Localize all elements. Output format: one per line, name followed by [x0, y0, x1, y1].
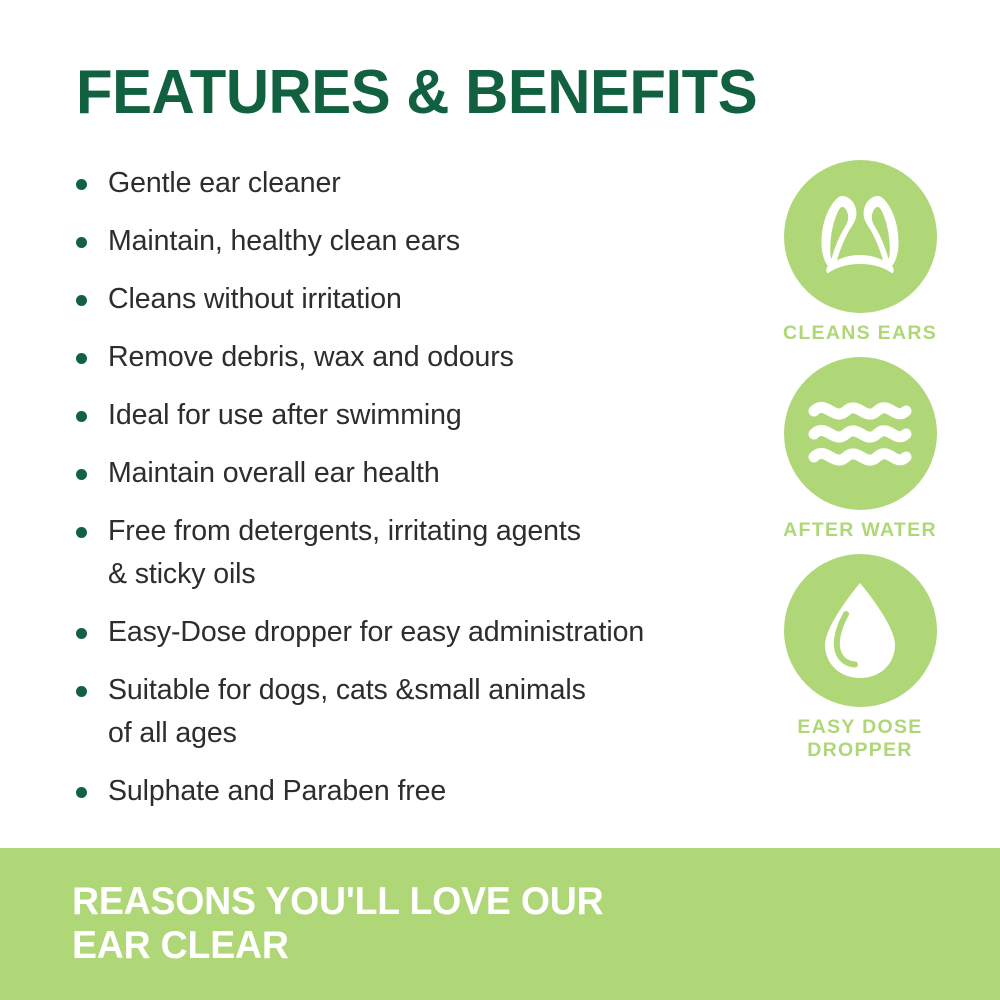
water-droplet-icon — [821, 581, 899, 681]
list-item-label: Maintain, healthy clean ears — [108, 220, 776, 263]
list-item-label: Cleans without irritation — [108, 278, 776, 321]
banner-heading: REASONS YOU'LL LOVE OUR EAR CLEAR — [72, 880, 604, 968]
feature-icon-column: CLEANS EARS AFTER WATER EASY DOSE DROPPE… — [760, 160, 960, 774]
feature-badge-after-water: AFTER WATER — [760, 357, 960, 542]
bullet-dot-icon — [76, 628, 87, 639]
page-title: FEATURES & BENEFITS — [76, 58, 757, 128]
feature-badge-label: EASY DOSE DROPPER — [760, 716, 960, 762]
bullet-dot-icon — [76, 411, 87, 422]
list-item-label: Remove debris, wax and odours — [108, 336, 776, 379]
list-item: Free from detergents, irritating agents … — [76, 510, 776, 596]
list-item-label: Easy-Dose dropper for easy administratio… — [108, 611, 776, 654]
list-item: Gentle ear cleaner — [76, 162, 776, 205]
benefits-list: Gentle ear cleaner Maintain, healthy cle… — [76, 162, 776, 828]
feature-badge-label: AFTER WATER — [760, 519, 960, 542]
list-item-label: Maintain overall ear health — [108, 452, 776, 495]
bullet-dot-icon — [76, 295, 87, 306]
bullet-dot-icon — [76, 469, 87, 480]
water-waves-icon — [808, 397, 912, 471]
list-item: Easy-Dose dropper for easy administratio… — [76, 611, 776, 654]
list-item: Remove debris, wax and odours — [76, 336, 776, 379]
feature-badge-cleans-ears: CLEANS EARS — [760, 160, 960, 345]
list-item: Ideal for use after swimming — [76, 394, 776, 437]
icon-circle — [784, 160, 937, 313]
bullet-dot-icon — [76, 686, 87, 697]
icon-circle — [784, 554, 937, 707]
list-item-label: Free from detergents, irritating agents … — [108, 510, 776, 596]
icon-circle — [784, 357, 937, 510]
bullet-dot-icon — [76, 787, 87, 798]
bullet-dot-icon — [76, 527, 87, 538]
list-item-label: Gentle ear cleaner — [108, 162, 776, 205]
list-item: Cleans without irritation — [76, 278, 776, 321]
feature-badge-label: CLEANS EARS — [760, 322, 960, 345]
list-item: Maintain overall ear health — [76, 452, 776, 495]
bullet-dot-icon — [76, 179, 87, 190]
list-item-label: Ideal for use after swimming — [108, 394, 776, 437]
bullet-dot-icon — [76, 237, 87, 248]
list-item: Maintain, healthy clean ears — [76, 220, 776, 263]
list-item-label: Suitable for dogs, cats &small animals o… — [108, 669, 776, 755]
feature-badge-easy-dose-dropper: EASY DOSE DROPPER — [760, 554, 960, 762]
animal-ears-icon — [808, 192, 912, 282]
bullet-dot-icon — [76, 353, 87, 364]
list-item-label: Sulphate and Paraben free — [108, 770, 776, 813]
list-item: Sulphate and Paraben free — [76, 770, 776, 813]
list-item: Suitable for dogs, cats &small animals o… — [76, 669, 776, 755]
